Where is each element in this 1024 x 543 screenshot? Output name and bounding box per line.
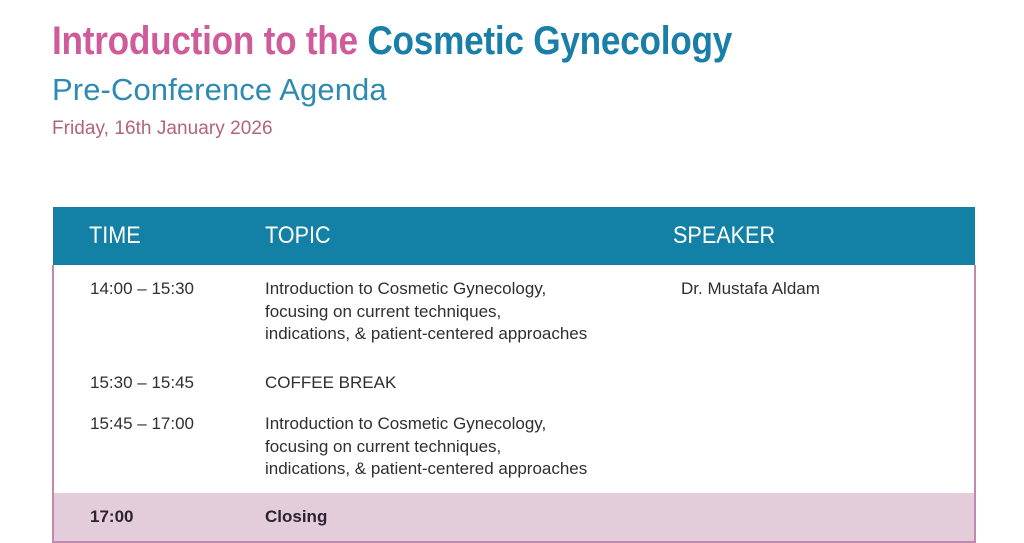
event-date: Friday, 16th January 2026 xyxy=(52,108,982,140)
page-title: Introduction to the Cosmetic Gynecology xyxy=(52,18,870,64)
page-subtitle: Pre-Conference Agenda xyxy=(52,64,982,108)
topic-line: indications, & patient-centered approach… xyxy=(265,323,673,346)
cell-topic: Introduction to Cosmetic Gynecology, foc… xyxy=(265,400,673,493)
agenda-table: TIME TOPIC SPEAKER 14:00 – 15:30 Introdu… xyxy=(52,207,976,543)
table-header-row: TIME TOPIC SPEAKER xyxy=(53,207,975,265)
page-title-accent: Cosmetic Gynecology xyxy=(367,19,732,63)
cell-speaker: Dr. Mustafa Aldam xyxy=(673,265,975,358)
topic-line: Introduction to Cosmetic Gynecology, xyxy=(265,413,673,436)
page-header: Introduction to the Cosmetic Gynecology … xyxy=(52,18,982,140)
topic-line: Introduction to Cosmetic Gynecology, xyxy=(265,278,673,301)
topic-line: Closing xyxy=(265,506,673,529)
cell-topic: COFFEE BREAK xyxy=(265,358,673,401)
table-row: 15:45 – 17:00 Introduction to Cosmetic G… xyxy=(53,400,975,493)
page-title-primary: Introduction to the xyxy=(52,19,367,63)
table-row: 14:00 – 15:30 Introduction to Cosmetic G… xyxy=(53,265,975,358)
column-header-speaker: SPEAKER xyxy=(673,207,975,265)
topic-line: focusing on current techniques, xyxy=(265,436,673,459)
cell-speaker xyxy=(673,358,975,401)
column-header-topic-label: TOPIC xyxy=(265,222,331,250)
cell-speaker xyxy=(673,493,975,543)
cell-time: 15:45 – 17:00 xyxy=(53,400,265,493)
agenda-table-body: 14:00 – 15:30 Introduction to Cosmetic G… xyxy=(53,265,975,542)
cell-time: 15:30 – 15:45 xyxy=(53,358,265,401)
cell-speaker xyxy=(673,400,975,493)
cell-time: 17:00 xyxy=(53,493,265,543)
table-row: 15:30 – 15:45 COFFEE BREAK xyxy=(53,358,975,401)
cell-time: 14:00 – 15:30 xyxy=(53,265,265,358)
table-row-closing: 17:00 Closing xyxy=(53,493,975,543)
cell-topic: Introduction to Cosmetic Gynecology, foc… xyxy=(265,265,673,358)
topic-line: indications, & patient-centered approach… xyxy=(265,458,673,481)
column-header-topic: TOPIC xyxy=(265,207,673,265)
column-header-time-label: TIME xyxy=(89,222,141,250)
column-header-time: TIME xyxy=(53,207,265,265)
cell-topic: Closing xyxy=(265,493,673,543)
topic-line: focusing on current techniques, xyxy=(265,301,673,324)
agenda-table-header: TIME TOPIC SPEAKER xyxy=(53,207,975,265)
topic-line: COFFEE BREAK xyxy=(265,372,673,395)
column-header-speaker-label: SPEAKER xyxy=(673,222,775,250)
